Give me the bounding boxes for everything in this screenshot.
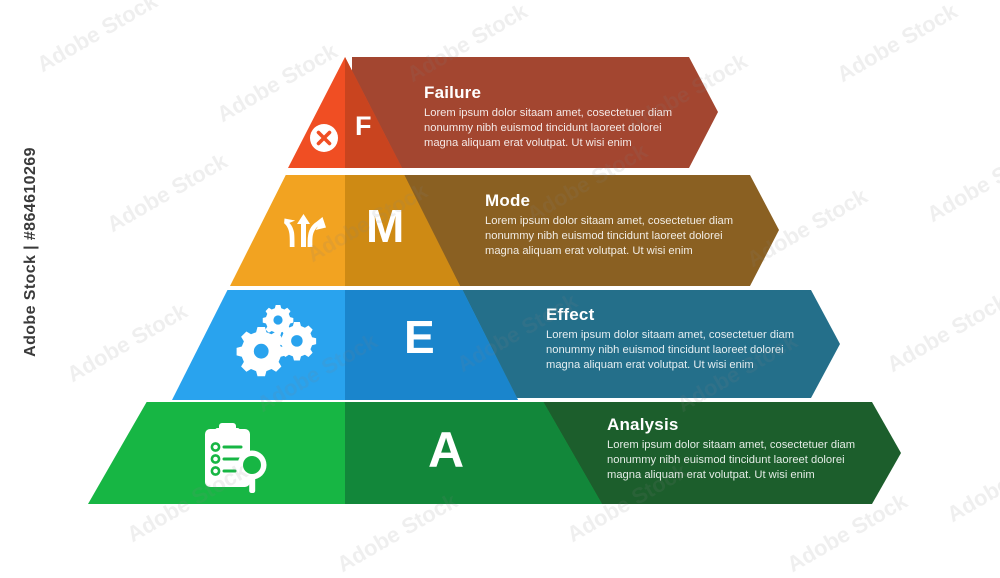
pyramid-band-analysis[interactable] (88, 402, 602, 504)
ribbon-desc-mode: Lorem ipsum dolor sitaam amet, cosectetu… (485, 214, 741, 260)
ribbon-desc-effect: Lorem ipsum dolor sitaam amet, cosectetu… (546, 328, 802, 374)
ribbon-title-failure: Failure (424, 83, 680, 103)
circle-x-icon (310, 124, 338, 152)
ribbon-title-analysis: Analysis (607, 415, 863, 435)
ribbon-title-effect: Effect (546, 305, 802, 325)
ribbon-text-analysis: Analysis Lorem ipsum dolor sitaam amet, … (607, 415, 863, 484)
ribbon-text-failure: Failure Lorem ipsum dolor sitaam amet, c… (424, 83, 680, 152)
ribbon-desc-failure: Lorem ipsum dolor sitaam amet, cosectetu… (424, 106, 680, 152)
ribbon-title-mode: Mode (485, 191, 741, 211)
ribbon-desc-analysis: Lorem ipsum dolor sitaam amet, cosectetu… (607, 438, 863, 484)
infographic-canvas: Failure Lorem ipsum dolor sitaam amet, c… (0, 0, 1000, 563)
ribbon-text-effect: Effect Lorem ipsum dolor sitaam amet, co… (546, 305, 802, 374)
ribbon-text-mode: Mode Lorem ipsum dolor sitaam amet, cose… (485, 191, 741, 260)
